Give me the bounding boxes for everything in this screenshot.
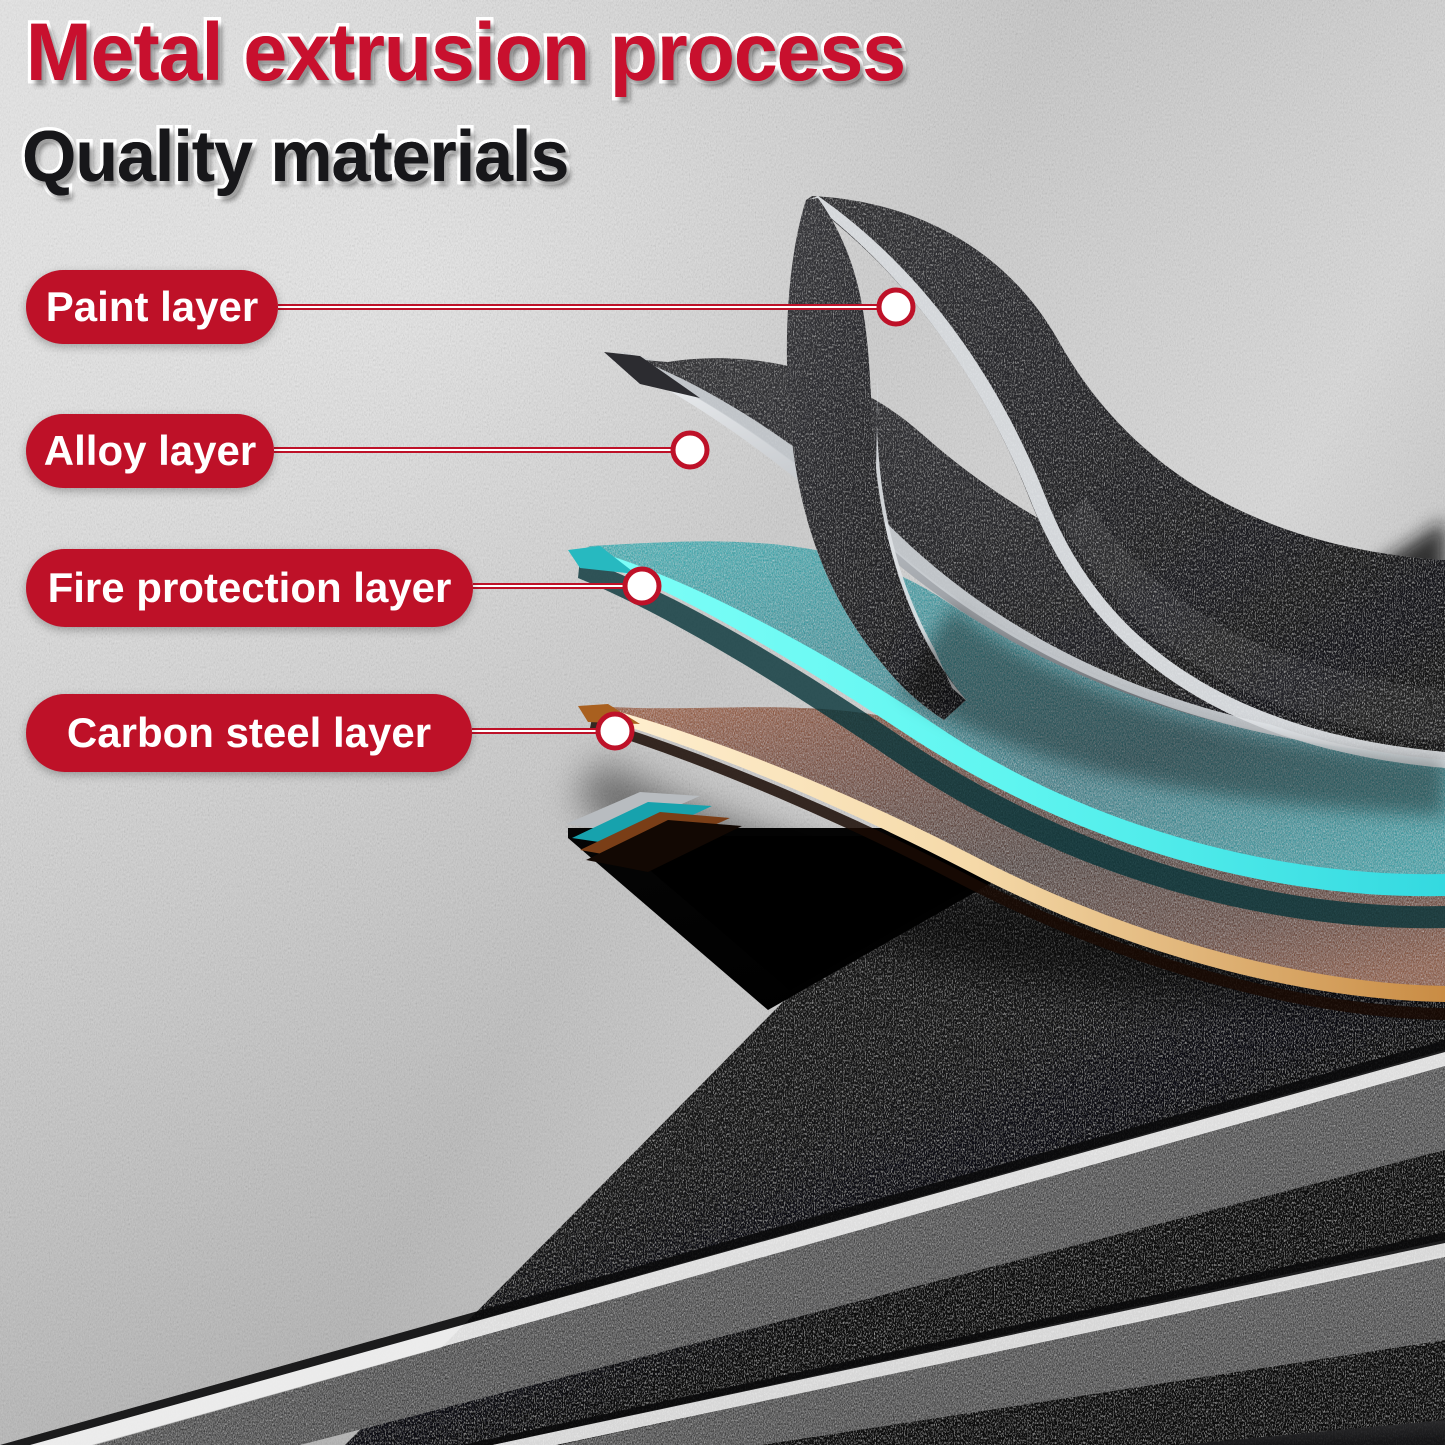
callout-pill-paint-layer[interactable]: Paint layer xyxy=(26,270,278,344)
leader-dot-fire-protection-layer[interactable] xyxy=(625,569,659,603)
callout-label: Carbon steel layer xyxy=(67,709,431,757)
callout-label: Fire protection layer xyxy=(48,564,452,612)
callout-pill-alloy-layer[interactable]: Alloy layer xyxy=(26,414,274,488)
infographic-canvas: Metal extrusion process Metal extrusion … xyxy=(0,0,1445,1445)
callout-pill-carbon-steel-layer[interactable]: Carbon steel layer xyxy=(26,694,472,772)
leader-dot-carbon-steel-layer[interactable] xyxy=(598,714,632,748)
callout-label: Paint layer xyxy=(46,283,258,331)
page-title: Metal extrusion process xyxy=(26,6,905,100)
callout-label: Alloy layer xyxy=(44,427,256,475)
page-subtitle: Quality materials xyxy=(22,116,568,198)
callout-pill-fire-protection-layer[interactable]: Fire protection layer xyxy=(26,549,473,627)
leader-dot-paint-layer[interactable] xyxy=(879,290,913,324)
leader-dot-alloy-layer[interactable] xyxy=(673,433,707,467)
